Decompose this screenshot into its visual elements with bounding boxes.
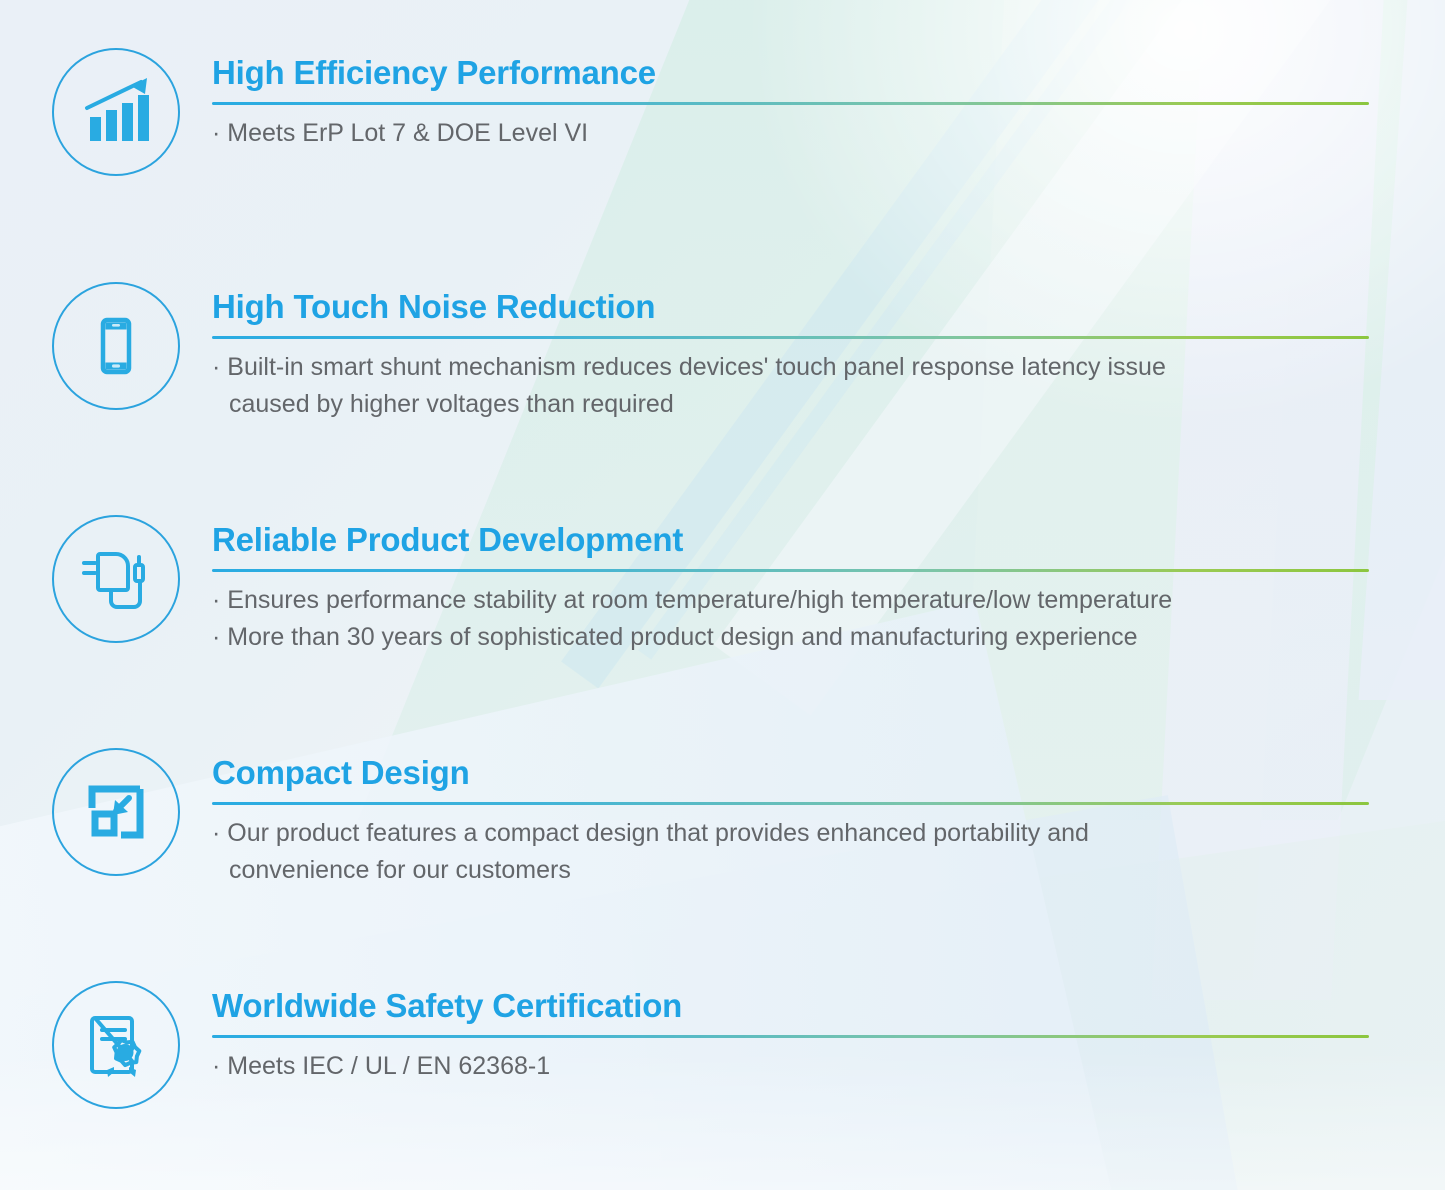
bullet-marker: · [212,353,220,381]
feature-item-compact-design: Compact Design · Our product features a … [52,748,1369,888]
feature-body: Compact Design · Our product features a … [212,748,1369,888]
bullet-line: Meets ErP Lot 7 & DOE Level VI [227,119,588,147]
feature-body: Worldwide Safety Certification · Meets I… [212,981,1369,1085]
feature-title: High Touch Noise Reduction [212,288,1369,327]
compact-resize-icon [52,748,180,876]
certificate-award-icon [52,981,180,1109]
feature-bullet: · Ensures performance stability at room … [212,582,1369,619]
background-lavender-band-2 [1359,0,1445,700]
feature-item-high-touch-noise-reduction: High Touch Noise Reduction · Built-in sm… [52,282,1369,422]
feature-body: High Efficiency Performance · Meets ErP … [212,48,1369,152]
feature-item-high-efficiency-performance: High Efficiency Performance · Meets ErP … [52,48,1369,176]
bullet-line: Meets IEC / UL / EN 62368-1 [227,1052,550,1080]
feature-bullet: · More than 30 years of sophisticated pr… [212,619,1369,656]
bullet-marker: · [212,119,220,147]
bullet-line-continued: convenience for our customers [212,852,571,889]
feature-divider [212,569,1369,572]
feature-divider [212,102,1369,105]
bullet-line: Built-in smart shunt mechanism reduces d… [227,353,1166,381]
smartphone-icon [52,282,180,410]
feature-title: Compact Design [212,754,1369,793]
bullet-line: Ensures performance stability at room te… [227,586,1172,614]
feature-title: Worldwide Safety Certification [212,987,1369,1026]
feature-bullet: · Built-in smart shunt mechanism reduces… [212,349,1369,423]
bullet-marker: · [212,819,220,847]
feature-item-worldwide-safety-certification: Worldwide Safety Certification · Meets I… [52,981,1369,1109]
feature-bullet: · Meets ErP Lot 7 & DOE Level VI [212,115,1369,152]
feature-body: High Touch Noise Reduction · Built-in sm… [212,282,1369,422]
feature-item-reliable-product-development: Reliable Product Development · Ensures p… [52,515,1369,655]
bar-chart-growth-icon [52,48,180,176]
bullet-line-continued: caused by higher voltages than required [212,386,674,423]
bullet-line: Our product features a compact design th… [227,819,1089,847]
feature-bullet: · Our product features a compact design … [212,815,1369,889]
feature-divider [212,802,1369,805]
feature-divider [212,1035,1369,1038]
feature-body: Reliable Product Development · Ensures p… [212,515,1369,655]
feature-highlights-page: High Efficiency Performance · Meets ErP … [0,0,1445,1190]
feature-bullet: · Meets IEC / UL / EN 62368-1 [212,1048,1369,1085]
feature-divider [212,336,1369,339]
bullet-marker: · [212,586,220,614]
bullet-line: More than 30 years of sophisticated prod… [227,623,1137,651]
bullet-marker: · [212,1052,220,1080]
feature-title: Reliable Product Development [212,521,1369,560]
power-adapter-icon [52,515,180,643]
bullet-marker: · [212,623,220,651]
feature-title: High Efficiency Performance [212,54,1369,93]
